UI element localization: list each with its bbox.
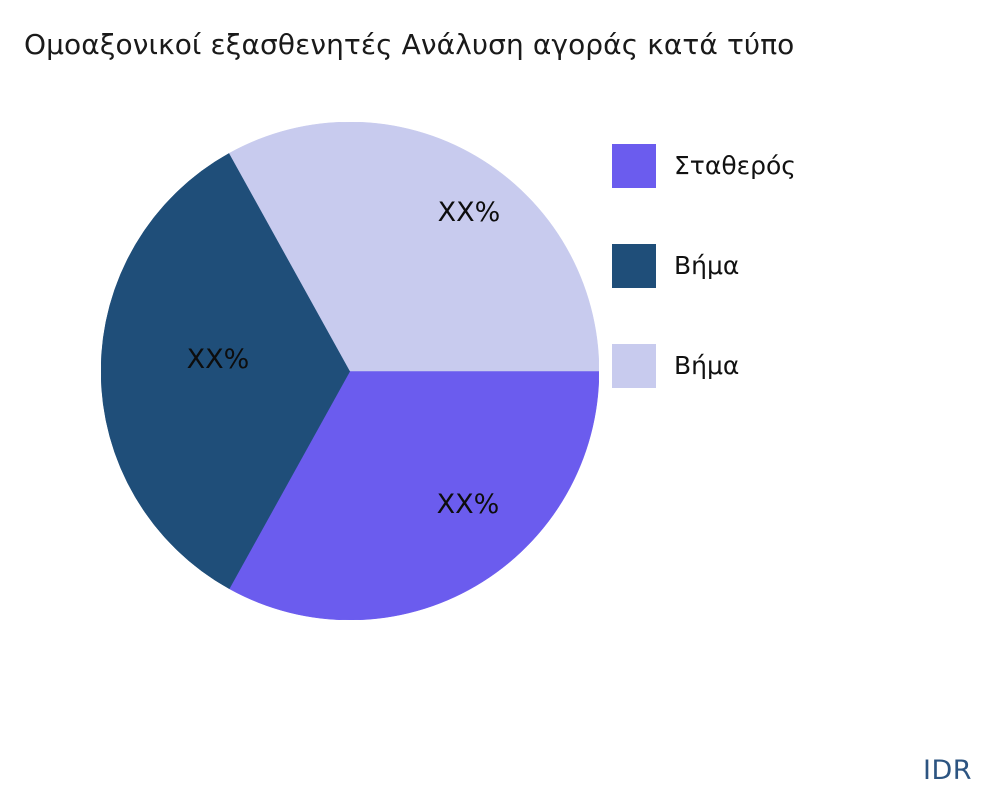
legend-item-0[interactable]: Σταθερός (612, 116, 942, 216)
page-title: Ομοαξονικοί εξασθενητές Ανάλυση αγοράς κ… (24, 26, 794, 64)
legend-swatch-icon-0 (612, 144, 656, 188)
legend-swatch-icon-1 (612, 244, 656, 288)
legend-label-2: Βήμα (674, 351, 739, 381)
watermark-logo: IDR (923, 755, 972, 786)
legend-item-2[interactable]: Βήμα (612, 316, 942, 416)
pie-slice-group (101, 122, 599, 620)
pie-chart (101, 122, 599, 620)
legend-label-0: Σταθερός (674, 151, 796, 181)
chart-legend: Σταθερός Βήμα Βήμα (612, 116, 942, 416)
legend-label-1: Βήμα (674, 251, 739, 281)
pie-svg (101, 122, 599, 620)
legend-swatch-icon-2 (612, 344, 656, 388)
chart-canvas: Ομοαξονικοί εξασθενητές Ανάλυση αγοράς κ… (0, 0, 1000, 800)
legend-item-1[interactable]: Βήμα (612, 216, 942, 316)
